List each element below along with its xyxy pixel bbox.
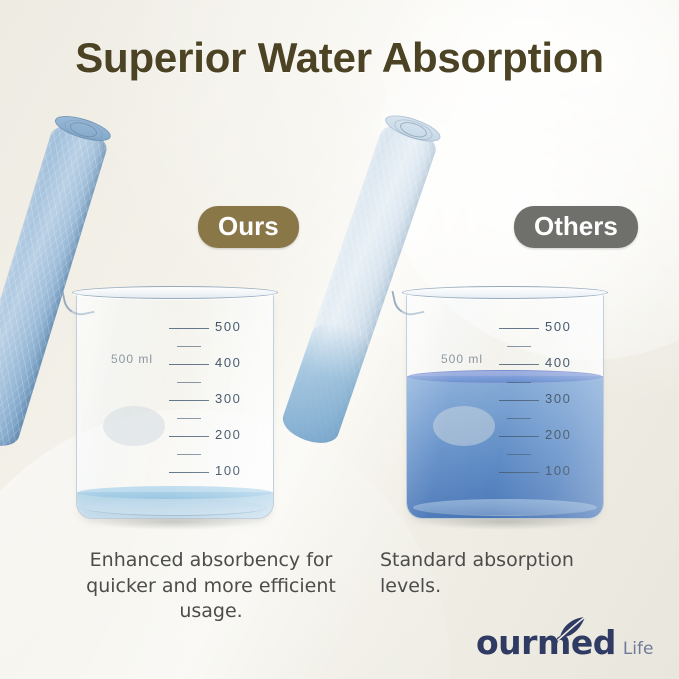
beaker-glass-others: 500 ml 500 400 300 200 100 xyxy=(406,290,604,519)
caption-ours: Enhanced absorbency for quicker and more… xyxy=(86,548,336,625)
beaker-spout xyxy=(61,285,94,318)
beaker-frost-patch xyxy=(103,406,165,446)
scale-tick-350 xyxy=(507,382,531,383)
scale-tick-400 xyxy=(169,364,209,365)
scale-tick-150 xyxy=(507,454,531,455)
beaker-scale-ours: 500 400 300 200 100 xyxy=(169,324,265,510)
beaker-scale-others: 500 400 300 200 100 xyxy=(499,324,595,510)
scale-label-400: 400 xyxy=(215,355,242,370)
scale-tick-100 xyxy=(499,472,539,473)
scale-label-300: 300 xyxy=(545,391,572,406)
infographic-canvas: Superior Water Absorption Ours 500 ml 50… xyxy=(0,0,679,679)
scale-label-100: 100 xyxy=(545,463,572,478)
brand-logo: ourmed Life xyxy=(476,626,653,668)
scale-label-200: 200 xyxy=(545,427,572,442)
beaker-frost-patch xyxy=(433,406,495,446)
scale-tick-450 xyxy=(177,346,201,347)
beaker-spout xyxy=(391,285,424,318)
logo-suffix: Life xyxy=(623,639,654,659)
scale-tick-250 xyxy=(507,418,531,419)
beaker-rim xyxy=(402,286,608,299)
scale-tick-400 xyxy=(499,364,539,365)
beaker-glass-ours: 500 ml 500 400 300 200 100 xyxy=(76,290,274,519)
scale-tick-300 xyxy=(169,400,209,401)
scale-tick-500 xyxy=(169,328,209,329)
badge-others: Others xyxy=(514,206,638,248)
scale-label-400: 400 xyxy=(545,355,572,370)
beaker-ours: 500 ml 500 400 300 200 100 xyxy=(76,276,272,522)
scale-tick-200 xyxy=(499,436,539,437)
scale-tick-150 xyxy=(177,454,201,455)
scale-label-200: 200 xyxy=(215,427,242,442)
comparison-panel-ours: Ours 500 ml 500 400 300 xyxy=(18,118,338,538)
beaker-base xyxy=(413,499,597,516)
leaf-icon xyxy=(555,616,589,642)
scale-label-500: 500 xyxy=(545,319,572,334)
scale-tick-100 xyxy=(169,472,209,473)
beaker-base xyxy=(83,499,267,516)
scale-label-300: 300 xyxy=(215,391,242,406)
scale-tick-500 xyxy=(499,328,539,329)
scale-tick-350 xyxy=(177,382,201,383)
scale-label-100: 100 xyxy=(215,463,242,478)
logo-wordmark: ourmed xyxy=(476,626,616,659)
scale-tick-450 xyxy=(507,346,531,347)
scale-label-500: 500 xyxy=(215,319,242,334)
comparison-panel-others: Others 500 ml 500 400 300 xyxy=(348,118,668,538)
scale-tick-200 xyxy=(169,436,209,437)
beaker-capacity-label-others: 500 ml xyxy=(441,352,483,366)
caption-others: Standard absorption levels. xyxy=(380,548,610,599)
page-title: Superior Water Absorption xyxy=(0,34,679,82)
scale-tick-250 xyxy=(177,418,201,419)
beaker-capacity-label-ours: 500 ml xyxy=(111,352,153,366)
scale-tick-300 xyxy=(499,400,539,401)
badge-ours: Ours xyxy=(198,206,299,248)
beaker-rim xyxy=(72,286,278,299)
beaker-others: 500 ml 500 400 300 200 100 xyxy=(406,276,602,522)
